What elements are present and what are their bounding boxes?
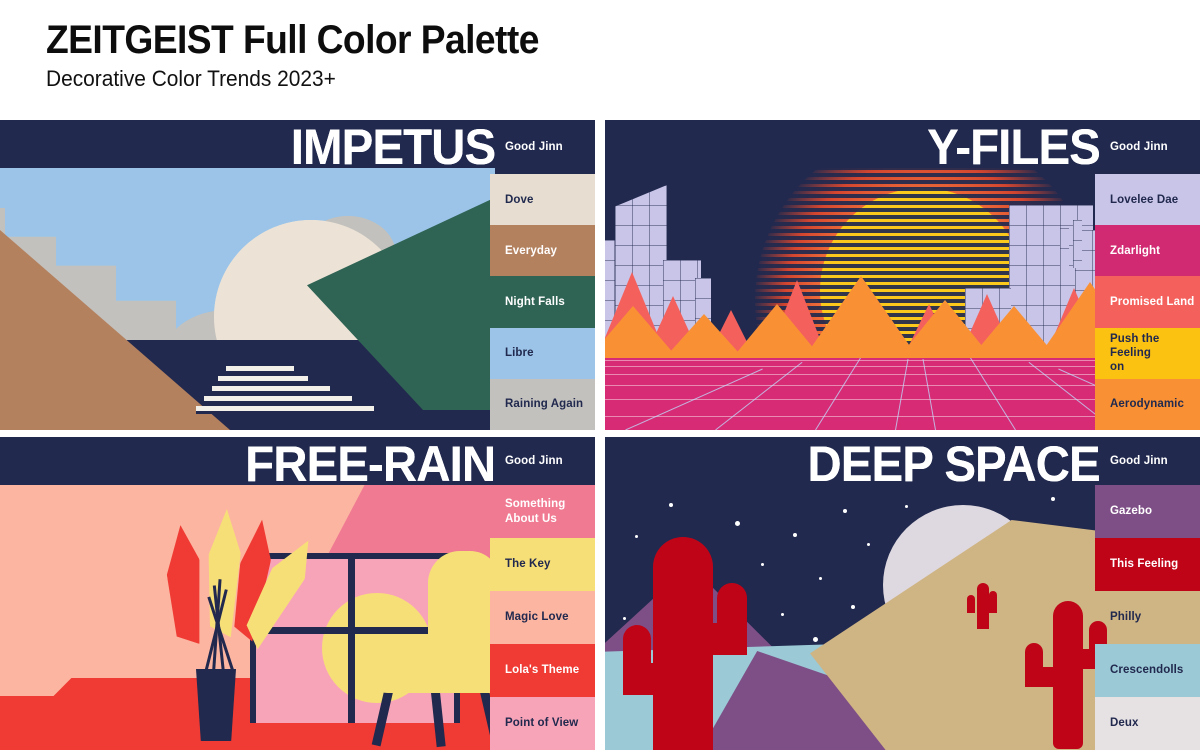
swatch-label: Night Falls bbox=[495, 295, 569, 309]
building-shape bbox=[1073, 220, 1082, 268]
page-subtitle: Decorative Color Trends 2023+ bbox=[46, 66, 549, 92]
vase-shape bbox=[196, 669, 236, 741]
swatch-label: Something About Us bbox=[495, 497, 579, 526]
cactus-large-trunk bbox=[653, 537, 713, 750]
swatch-label: Good Jinn bbox=[495, 140, 567, 154]
panel-title-y-files: Y-FILES bbox=[927, 122, 1100, 172]
cactus-small bbox=[977, 583, 989, 629]
cactus-mid-arm-left-join bbox=[1025, 667, 1059, 687]
swatch-label: Libre bbox=[490, 346, 538, 360]
swatch-label: Push the Feeling on bbox=[1095, 332, 1169, 375]
panel-title-free-rain: FREE-RAIN bbox=[245, 439, 495, 489]
star-dot bbox=[1051, 497, 1055, 501]
swatch-column-y-files: Good Jinn Lovelee Dae Zdarlight Promised… bbox=[1100, 120, 1200, 430]
building-shape bbox=[1060, 228, 1069, 268]
swatch-label: Philly bbox=[1100, 610, 1145, 624]
star-dot bbox=[819, 577, 822, 580]
swatch-label: Promised Land bbox=[1095, 295, 1198, 309]
cactus-large-arm-left-join bbox=[623, 663, 665, 695]
swatch-deux[interactable]: Deux bbox=[1095, 697, 1200, 750]
swatch-zdarlight[interactable]: Zdarlight bbox=[1095, 225, 1200, 276]
swatch-this-feeling[interactable]: This Feeling bbox=[1095, 538, 1200, 591]
star-dot bbox=[905, 505, 908, 508]
panel-title-deep-space: DEEP SPACE bbox=[808, 439, 1100, 489]
swatch-column-free-rain: Good Jinn Something About Us The Key Mag… bbox=[495, 437, 595, 750]
swatch-good-jinn[interactable]: Good Jinn bbox=[495, 437, 595, 485]
swatch-raining-again[interactable]: Raining Again bbox=[490, 379, 595, 430]
star-dot bbox=[781, 613, 784, 616]
swatch-label: Lovelee Dae bbox=[1095, 193, 1182, 207]
swatch-column-deep-space: Good Jinn Gazebo This Feeling Philly Cre… bbox=[1100, 437, 1200, 750]
swatch-label: Deux bbox=[1095, 716, 1143, 730]
swatch-label: Good Jinn bbox=[495, 454, 567, 468]
star-dot bbox=[623, 617, 626, 620]
poster-root: ZEITGEIST Full Color Palette Decorative … bbox=[0, 0, 1200, 750]
swatch-label: Zdarlight bbox=[1095, 244, 1164, 258]
star-dot bbox=[843, 509, 847, 513]
panel-title-impetus: IMPETUS bbox=[291, 122, 495, 172]
grid-vline bbox=[970, 358, 1016, 430]
star-dot bbox=[735, 521, 740, 526]
swatch-label: Crescendolls bbox=[1095, 663, 1187, 677]
swatch-gazebo[interactable]: Gazebo bbox=[1095, 485, 1200, 538]
star-dot bbox=[867, 543, 870, 546]
swatch-label: Good Jinn bbox=[1100, 140, 1172, 154]
swatch-lovelee-dae[interactable]: Lovelee Dae bbox=[1095, 174, 1200, 225]
swatch-label: Aerodynamic bbox=[1095, 397, 1188, 411]
stair-step bbox=[196, 406, 374, 411]
swatch-promised-land[interactable]: Promised Land bbox=[1095, 276, 1200, 327]
swatch-philly[interactable]: Philly bbox=[1100, 591, 1200, 644]
swatch-night-falls[interactable]: Night Falls bbox=[495, 276, 595, 327]
palette-panel-impetus[interactable]: IMPETUS Good Jinn Dove Everyday Night Fa… bbox=[0, 120, 595, 430]
stair-step bbox=[226, 366, 294, 371]
swatch-label: Magic Love bbox=[490, 610, 573, 624]
stair-step bbox=[218, 376, 308, 381]
stair-step bbox=[204, 396, 352, 401]
palette-panel-deep-space[interactable]: DEEP SPACE Good Jinn Gazebo This Feeling… bbox=[605, 437, 1200, 750]
star-dot bbox=[813, 637, 818, 642]
swatch-good-jinn[interactable]: Good Jinn bbox=[495, 120, 595, 174]
cactus-small-arm bbox=[989, 591, 997, 613]
window-mullion-vertical bbox=[348, 553, 355, 723]
palette-panel-y-files[interactable]: Y-FILES Good Jinn Lovelee Dae Zdarlight … bbox=[605, 120, 1200, 430]
swatch-point-of-view[interactable]: Point of View bbox=[490, 697, 595, 750]
grid-vline bbox=[715, 362, 802, 430]
palette-grid: IMPETUS Good Jinn Dove Everyday Night Fa… bbox=[0, 120, 1200, 750]
swatch-crescendolls[interactable]: Crescendolls bbox=[1095, 644, 1200, 697]
palette-panel-free-rain[interactable]: FREE-RAIN Good Jinn Something About Us T… bbox=[0, 437, 595, 750]
star-dot bbox=[793, 533, 797, 537]
swatch-libre[interactable]: Libre bbox=[490, 328, 595, 379]
swatch-magic-love[interactable]: Magic Love bbox=[490, 591, 595, 644]
swatch-push-the-feeling-on[interactable]: Push the Feeling on bbox=[1095, 328, 1200, 379]
grid-vline bbox=[815, 358, 861, 430]
star-dot bbox=[851, 605, 855, 609]
swatch-everyday[interactable]: Everyday bbox=[490, 225, 595, 276]
swatch-label: Lola's Theme bbox=[490, 663, 583, 677]
swatch-column-impetus: Good Jinn Dove Everyday Night Falls Libr… bbox=[495, 120, 595, 430]
swatch-aerodynamic[interactable]: Aerodynamic bbox=[1095, 379, 1200, 430]
page-title: ZEITGEIST Full Color Palette bbox=[46, 18, 539, 62]
grid-vline bbox=[923, 359, 936, 430]
swatch-label: The Key bbox=[490, 557, 554, 571]
cactus-large-arm-right-join bbox=[705, 623, 747, 655]
cactus-small-arm bbox=[967, 595, 975, 613]
stair-step bbox=[212, 386, 330, 391]
swatch-label: Good Jinn bbox=[1100, 454, 1172, 468]
swatch-label: Dove bbox=[490, 193, 538, 207]
swatch-label: Gazebo bbox=[1095, 504, 1156, 518]
page-header: ZEITGEIST Full Color Palette Decorative … bbox=[46, 18, 576, 92]
star-dot bbox=[635, 535, 638, 538]
swatch-label: Point of View bbox=[490, 716, 582, 730]
swatch-label: This Feeling bbox=[1095, 557, 1182, 571]
swatch-the-key[interactable]: The Key bbox=[490, 538, 595, 591]
star-dot bbox=[761, 563, 764, 566]
swatch-good-jinn[interactable]: Good Jinn bbox=[1100, 120, 1200, 174]
swatch-dove[interactable]: Dove bbox=[490, 174, 595, 225]
swatch-lolas-theme[interactable]: Lola's Theme bbox=[490, 644, 595, 697]
swatch-label: Everyday bbox=[490, 244, 561, 258]
star-dot bbox=[669, 503, 673, 507]
swatch-good-jinn[interactable]: Good Jinn bbox=[1100, 437, 1200, 485]
swatch-label: Raining Again bbox=[490, 397, 587, 411]
swatch-something-about-us[interactable]: Something About Us bbox=[495, 485, 595, 538]
grid-vline bbox=[895, 359, 908, 430]
